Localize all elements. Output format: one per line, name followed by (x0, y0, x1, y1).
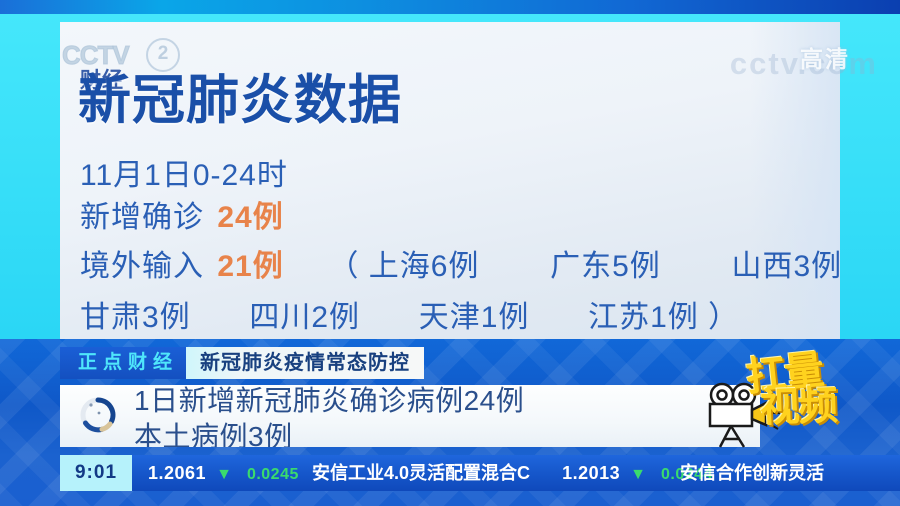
region-count: 1例 (650, 301, 699, 334)
region-item: 江苏1例 (588, 301, 699, 334)
region-item: 广东5例 (550, 250, 661, 283)
new-confirmed-value: 24例 (213, 201, 287, 234)
region-name: 甘肃 (80, 301, 142, 334)
region-count: 5例 (612, 250, 661, 283)
paren-close: ） (708, 301, 739, 334)
corner-logo-text: 扛量 视频 (745, 346, 882, 431)
region-item: 山西3例 (732, 250, 843, 283)
imported-cases-row-continued: 甘肃3例 四川2例 天津1例 江苏1例 ） (80, 292, 739, 336)
down-arrow-icon: ▼ (625, 466, 651, 483)
imported-cases-row: 境外输入 21例 （ 上海6例 广东5例 山西3例 (80, 241, 842, 285)
new-confirmed-label: 新增确诊 (80, 201, 204, 234)
region-count: 1例 (481, 301, 530, 334)
region-item: 四川2例 (249, 301, 360, 334)
stock-price: 1.2061 (148, 463, 206, 483)
region-name: 山西 (732, 250, 794, 283)
region-item: 上海6例 (369, 250, 480, 283)
region-name: 广东 (550, 250, 612, 283)
region-name: 江苏 (588, 301, 650, 334)
imported-cases-label: 境外输入 (80, 250, 204, 283)
clock-time: 9:01 (60, 455, 132, 491)
region-name: 上海 (369, 250, 431, 283)
region-count: 6例 (431, 250, 480, 283)
stock-price: 1.2013 (562, 463, 620, 483)
stock-item: 1.2061 ▼ 0.0245 (148, 455, 304, 491)
loading-spinner-icon (76, 393, 120, 437)
region-item: 甘肃3例 (80, 301, 191, 334)
date-line: 11月1日0-24时 (80, 150, 288, 194)
new-confirmed-row: 新增确诊 24例 (80, 192, 288, 236)
down-arrow-icon: ▼ (211, 466, 237, 483)
region-name: 四川 (249, 301, 311, 334)
imported-cases-value: 21例 (213, 250, 287, 283)
region-item: 天津1例 (419, 301, 530, 334)
program-name-badge: 正点财经 (60, 347, 196, 379)
ticker-line-1: 1日新增新冠肺炎确诊病例24例 (134, 385, 524, 416)
stock-change: 0.0245 (242, 466, 304, 483)
region-count: 3例 (142, 301, 191, 334)
region-count: 2例 (311, 301, 360, 334)
corner-logo-line-2: 视频 (759, 386, 880, 426)
paren-open: （ (328, 250, 359, 283)
stock-name: 安信工业4.0灵活配置混合C (312, 463, 530, 483)
top-gradient-strip (0, 0, 900, 14)
news-ticker: 1日新增新冠肺炎确诊病例24例 本土病例3例 (60, 385, 760, 447)
ticker-line-2: 本土病例3例 (134, 419, 524, 447)
ticker-text: 1日新增新冠肺炎确诊病例24例 本土病例3例 (134, 385, 524, 447)
stock-item: 安信工业4.0灵活配置混合C 1.2013 ▼ 0.0244 (312, 455, 718, 491)
cctv-channel-number: 2 (146, 38, 180, 72)
topic-badge: 新冠肺炎疫情常态防控 (186, 347, 424, 379)
region-name: 天津 (419, 301, 481, 334)
page-title: 新冠肺炎数据 (78, 74, 402, 127)
region-count: 3例 (794, 250, 843, 283)
left-cyan-margin (0, 14, 60, 339)
hd-badge: 高清 (800, 40, 850, 74)
corner-brand-logo: 扛量 视频 (700, 355, 890, 480)
tv-broadcast-screenshot: cctv.com 高清 CCTV 2 财经 新冠肺炎数据 11月1日0-24时 … (0, 0, 900, 506)
